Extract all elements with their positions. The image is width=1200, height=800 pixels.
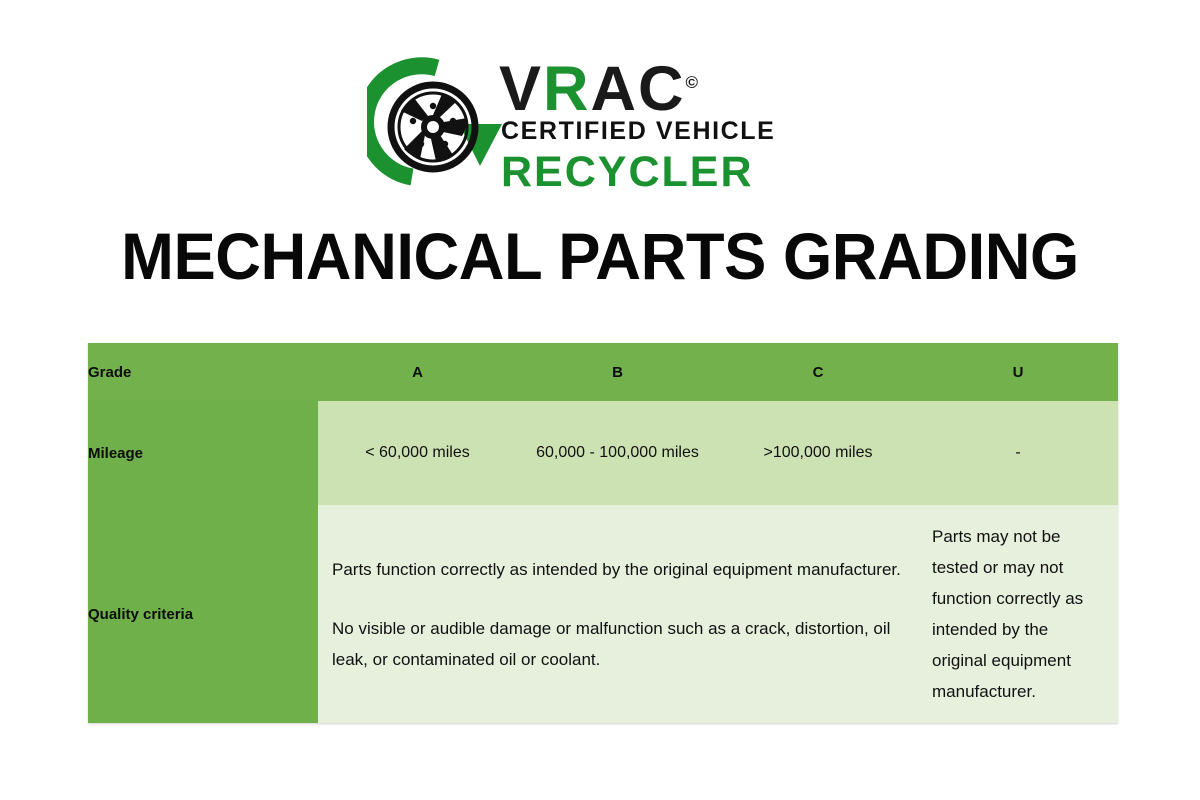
table-row-quality-criteria: Quality criteria Parts function correctl… xyxy=(88,505,1118,723)
row-label-quality-criteria: Quality criteria xyxy=(88,505,318,723)
quality-criteria-paragraph-2: No visible or audible damage or malfunct… xyxy=(332,613,908,675)
table-header-row: Grade A B C U xyxy=(88,343,1118,401)
brand-letter-v: V xyxy=(499,54,543,124)
header-cell-u: U xyxy=(918,343,1118,401)
mileage-grade-a: < 60,000 miles xyxy=(318,401,517,505)
quality-criteria-grade-u: Parts may not be tested or may not funct… xyxy=(918,505,1118,723)
brand-wordmark-recycler: RECYCLER xyxy=(501,149,754,195)
brand-tagline: CERTIFIED VEHICLE xyxy=(501,117,775,145)
recycling-wheel-logo-icon xyxy=(367,54,507,194)
mileage-grade-c: >100,000 miles xyxy=(718,401,918,505)
brand-letters-ac: AC xyxy=(591,54,686,124)
brand-name-vrac: VRAC© xyxy=(499,50,698,122)
header-cell-b: B xyxy=(517,343,718,401)
brand-logo: VRAC© CERTIFIED VEHICLE RECYCLER xyxy=(0,46,1200,206)
header-cell-grade: Grade xyxy=(88,343,318,401)
mileage-grade-u: - xyxy=(918,401,1118,505)
page-title: MECHANICAL PARTS GRADING xyxy=(24,217,1176,295)
row-label-mileage: Mileage xyxy=(88,401,318,505)
quality-criteria-paragraph-1: Parts function correctly as intended by … xyxy=(332,554,908,585)
brand-letter-r: R xyxy=(543,54,591,124)
mechanical-parts-grading-table: Grade A B C U Mileage < 60,000 miles 60,… xyxy=(88,343,1118,723)
header-cell-c: C xyxy=(718,343,918,401)
mileage-grade-b: 60,000 - 100,000 miles xyxy=(517,401,718,505)
brand-wordmark: VRAC© CERTIFIED VEHICLE RECYCLER xyxy=(499,46,839,206)
quality-criteria-grades-abc: Parts function correctly as intended by … xyxy=(318,505,918,723)
copyright-icon: © xyxy=(686,73,699,92)
table-row-mileage: Mileage < 60,000 miles 60,000 - 100,000 … xyxy=(88,401,1118,505)
header-cell-a: A xyxy=(318,343,517,401)
